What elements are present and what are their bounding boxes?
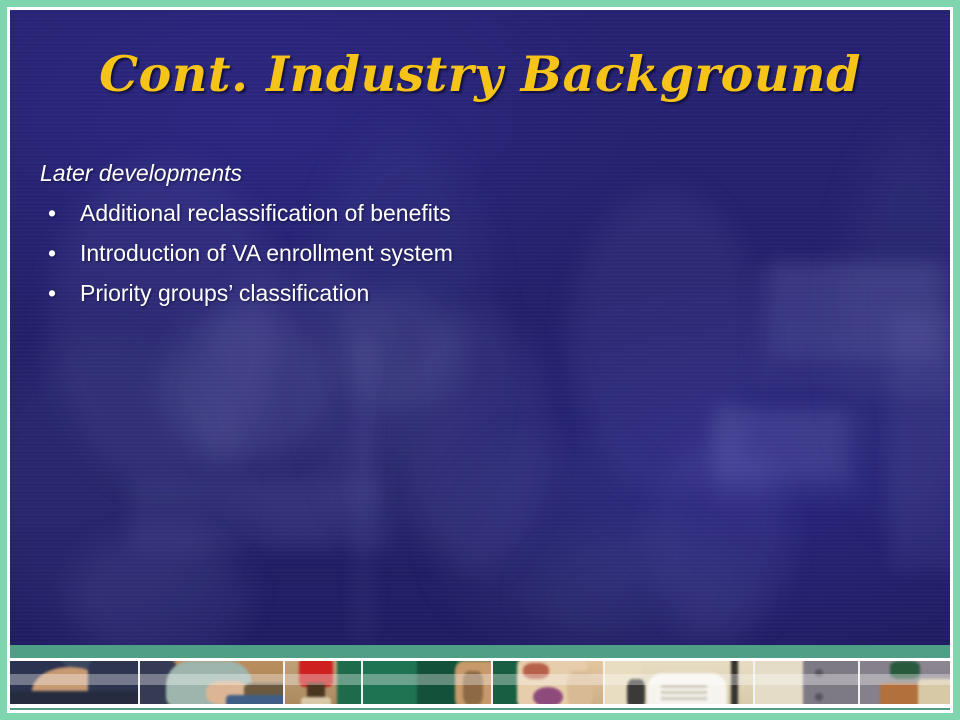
filmstrip-panel [285, 661, 363, 704]
filmstrip-panel [363, 661, 493, 704]
filmstrip-panel [140, 661, 285, 704]
bullet-item: • Introduction of VA enrollment system [40, 236, 740, 270]
presentation-slide: Cont. Industry Background Later developm… [0, 0, 960, 720]
bullet-marker-icon: • [40, 196, 80, 230]
filmstrip-panel [860, 661, 950, 704]
bullet-text: Additional reclassification of benefits [80, 196, 451, 230]
bullet-text: Introduction of VA enrollment system [80, 236, 453, 270]
content-subheading: Later developments [40, 158, 740, 188]
filmstrip-panel [605, 661, 755, 704]
filmstrip-panel [10, 661, 140, 704]
filmstrip-panel [755, 661, 860, 704]
filmstrip-panel [493, 661, 605, 704]
filmstrip-top-rule [10, 658, 950, 661]
accent-band [10, 645, 950, 658]
filmstrip [10, 661, 950, 704]
slide-body-background: Cont. Industry Background Later developm… [10, 10, 950, 645]
bullet-text: Priority groups’ classification [80, 276, 369, 310]
filmstrip-bottom-rule [10, 704, 950, 708]
bullet-marker-icon: • [40, 276, 80, 310]
bullet-item: • Additional reclassification of benefit… [40, 196, 740, 230]
bullet-marker-icon: • [40, 236, 80, 270]
slide-content: Later developments • Additional reclassi… [40, 158, 740, 316]
bullet-item: • Priority groups’ classification [40, 276, 740, 310]
bottom-accent-band [10, 708, 950, 713]
slide-title: Cont. Industry Background [10, 44, 950, 104]
